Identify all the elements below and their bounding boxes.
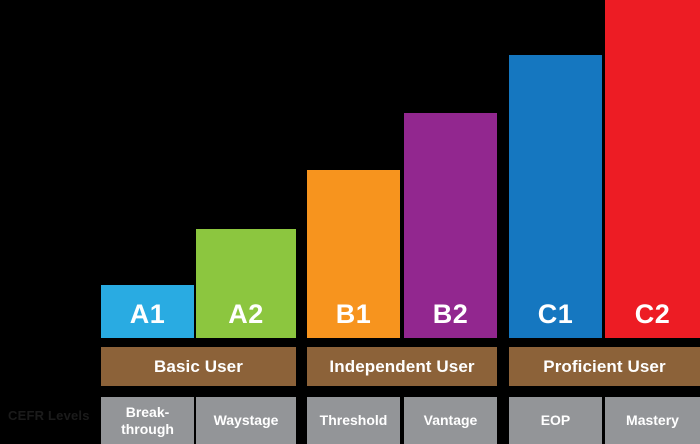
descriptor-cell-threshold[interactable]: Threshold xyxy=(307,397,400,444)
group-band-label-basic-user: Basic User xyxy=(154,357,243,377)
bar-a2[interactable]: A2 xyxy=(196,229,296,338)
cefr-levels-chart: CEFR Levels A1 A2 B1 B2 C1 C2 Basic User… xyxy=(0,0,700,444)
descriptor-label-threshold: Threshold xyxy=(320,412,388,429)
bar-b1[interactable]: B1 xyxy=(307,170,400,338)
descriptor-cell-breakthrough[interactable]: Break-through xyxy=(101,397,194,444)
group-band-basic-user[interactable]: Basic User xyxy=(101,347,296,386)
descriptor-label-mastery: Mastery xyxy=(626,412,679,429)
descriptor-label-eop: EOP xyxy=(541,412,571,429)
bar-label-c1: C1 xyxy=(538,301,574,338)
descriptor-label-waystage: Waystage xyxy=(214,412,279,429)
descriptor-cell-vantage[interactable]: Vantage xyxy=(404,397,497,444)
group-band-proficient-user[interactable]: Proficient User xyxy=(509,347,700,386)
bar-label-a1: A1 xyxy=(130,301,166,338)
bar-label-b1: B1 xyxy=(336,301,372,338)
bar-c2[interactable]: C2 xyxy=(605,0,700,338)
bar-label-a2: A2 xyxy=(228,301,264,338)
bar-c1[interactable]: C1 xyxy=(509,55,602,338)
bar-label-b2: B2 xyxy=(433,301,469,338)
descriptor-cell-mastery[interactable]: Mastery xyxy=(605,397,700,444)
bar-label-c2: C2 xyxy=(635,301,671,338)
descriptor-cell-waystage[interactable]: Waystage xyxy=(196,397,296,444)
axis-caption-cefr-levels: CEFR Levels xyxy=(8,408,96,424)
group-band-independent-user[interactable]: Independent User xyxy=(307,347,497,386)
descriptor-label-vantage: Vantage xyxy=(424,412,478,429)
descriptor-label-breakthrough: Break-through xyxy=(121,404,174,438)
group-band-label-independent-user: Independent User xyxy=(329,357,474,377)
group-band-label-proficient-user: Proficient User xyxy=(543,357,665,377)
bar-a1[interactable]: A1 xyxy=(101,285,194,338)
descriptor-cell-eop[interactable]: EOP xyxy=(509,397,602,444)
bar-b2[interactable]: B2 xyxy=(404,113,497,338)
